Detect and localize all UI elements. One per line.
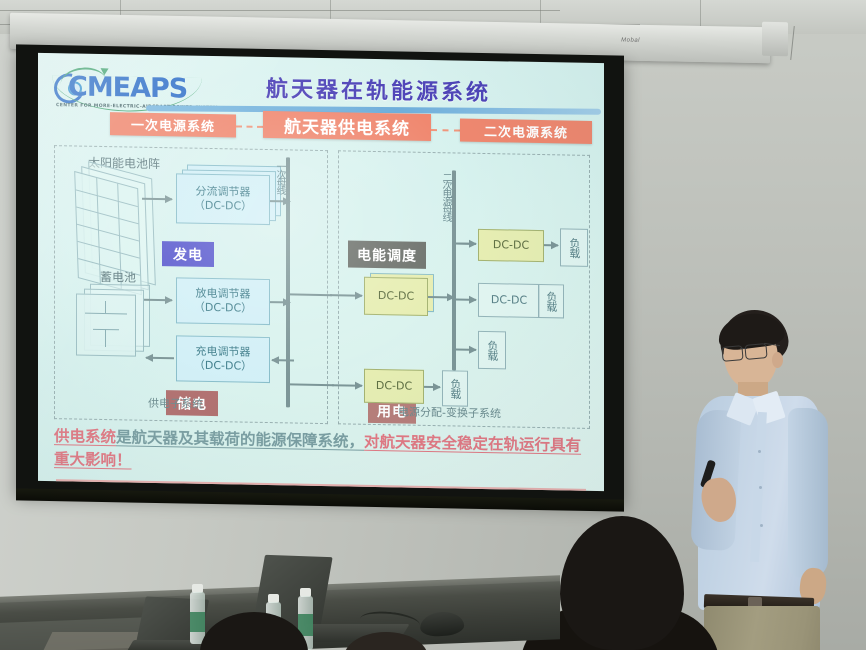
statement-primary: 供电系统是航天器及其载荷的能源保障系统，对航天器安全稳定在轨运行具有重大影响！: [54, 425, 590, 481]
charge-regulator-title: 充电调节器: [196, 345, 251, 360]
load-branch3-label: 负载: [485, 340, 499, 360]
screen-housing-end-cap: [762, 22, 788, 56]
load-branch2-label: 负载: [544, 291, 558, 311]
left-subsystem-caption: 供电子系统: [148, 395, 203, 412]
secondary-bus-label: 二次电源母线: [438, 172, 453, 220]
presenter-ear: [772, 352, 783, 368]
consumption-dcdc-label: DC-DC: [376, 379, 412, 393]
box-branch2-dcdc: DC-DC: [478, 283, 540, 318]
charge-regulator-subtitle: （DC-DC）: [194, 359, 252, 374]
screen-brand-label: Mobal: [621, 37, 640, 43]
badge-power-scheduling: 电能调度: [348, 240, 426, 268]
box-load-branch2: 负载: [538, 284, 564, 318]
box-consumption-dcdc: DC-DC: [364, 369, 424, 404]
primary-bus-bar: [286, 157, 290, 407]
box-load-branch1: 负载: [560, 228, 588, 267]
arrow-bus1-to-charge: [272, 359, 294, 361]
banner-connector-left: [236, 125, 263, 127]
projected-slide: CMEAPS CENTER FOR MORE-ELECTRIC-AIRCRAFT…: [38, 53, 604, 491]
statement-normal: 是航天器及其载荷的能源保障系统，: [116, 428, 364, 451]
box-charge-regulator: 充电调节器 （DC-DC）: [176, 335, 270, 383]
box-load-branch4: 负载: [442, 370, 468, 406]
box-load-branch3: 负载: [478, 331, 506, 370]
banner-spacecraft-power-system: 航天器供电系统: [263, 111, 431, 141]
line-bus1-to-charge-drop: [292, 359, 294, 361]
shunt-regulator-subtitle: （DC-DC）: [194, 199, 252, 214]
arrow-shunt-to-bus1: [270, 200, 290, 202]
branch2-dcdc-label: DC-DC: [491, 293, 527, 307]
arrow-dcdc1-to-load1: [544, 244, 558, 246]
load-branch4-label: 负载: [448, 378, 462, 398]
badge-power-generation: 发电: [162, 241, 214, 267]
arrow-bus1-to-sched-dcdc: [330, 294, 362, 296]
shunt-regulator-title: 分流调节器: [196, 185, 251, 200]
discharge-regulator-title: 放电调节器: [196, 287, 251, 302]
arrow-bus2-to-dcdc2: [456, 298, 476, 300]
arrow-use-dcdc-to-load: [424, 386, 440, 388]
box-scheduling-dcdc: DC-DC: [364, 277, 428, 316]
presenter-glasses-bridge: [740, 348, 747, 349]
branch1-dcdc-label: DC-DC: [493, 238, 529, 252]
battery-label: 蓄电池: [100, 268, 136, 286]
box-discharge-regulator: 放电调节器 （DC-DC）: [176, 277, 270, 325]
box-branch1-dcdc: DC-DC: [478, 229, 544, 262]
logo-wordmark: CMEAPS: [68, 71, 187, 104]
banner-primary-power-system: 一次电源系统: [110, 112, 236, 137]
arrow-bus2-to-load3: [456, 348, 476, 350]
statement-highlight-a: 供电系统: [54, 427, 116, 446]
arrow-bus1-to-use-dcdc: [332, 384, 362, 386]
banner-connector-right: [431, 129, 460, 132]
presentation-room-photo: Mobal CMEAPS CENTER FOR MORE-ELECTRIC-AI…: [0, 0, 866, 650]
presenter-right-arm: [788, 408, 828, 578]
slide-title: 航天器在轨能源系统: [266, 71, 491, 107]
load-branch1-label: 负载: [567, 238, 581, 258]
scheduling-dcdc-label: DC-DC: [378, 289, 414, 303]
primary-bus-label: 一次母线: [272, 161, 287, 193]
presenter-trousers: [704, 606, 820, 650]
discharge-regulator-subtitle: （DC-DC）: [194, 301, 252, 316]
arrow-charge-to-batt: [146, 357, 174, 359]
banner-secondary-power-system: 二次电源系统: [460, 119, 592, 144]
battery-icon: [76, 284, 154, 361]
box-shunt-regulator: 分流调节器 （DC-DC）: [176, 173, 270, 225]
arrow-discharge-to-bus1: [270, 301, 290, 303]
arrow-bus2-to-dcdc1: [456, 242, 476, 244]
presenter-glasses-right-lens: [744, 343, 767, 360]
